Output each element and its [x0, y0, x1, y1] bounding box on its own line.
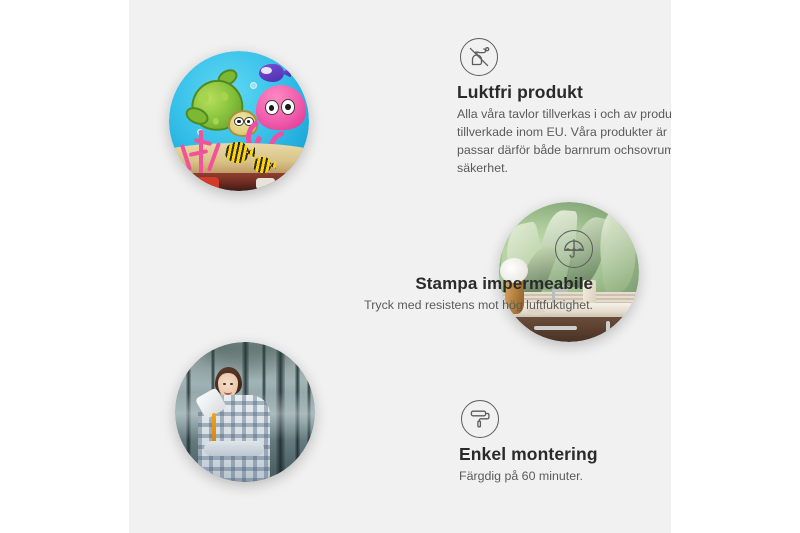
feature-body: Tryck med resistens mot hög luftfuktighe… — [291, 297, 593, 315]
paint-roller-icon — [461, 400, 499, 438]
no-fragrance-icon — [460, 38, 498, 76]
content-panel: Luktfri produkt Alla våra tavlor tillver… — [129, 0, 671, 533]
feature-body: Färgdig på 60 minuter. — [459, 468, 671, 486]
feature-block-odour-free: Luktfri produkt Alla våra tavlor tillver… — [457, 38, 671, 178]
feature-title: Stampa impermeabile — [291, 274, 593, 294]
feature-image-underwater — [169, 51, 309, 191]
umbrella-icon — [555, 230, 593, 268]
feature-body: Alla våra tavlor tillverkas i och av pro… — [457, 106, 671, 178]
feature-block-waterproof: Stampa impermeabile Tryck med resistens … — [291, 230, 593, 315]
feature-image-painter — [175, 342, 315, 482]
feature-block-easy-mounting: Enkel montering Färgdig på 60 minuter. — [459, 400, 671, 486]
feature-title: Enkel montering — [459, 444, 671, 465]
infographic-page: Luktfri produkt Alla våra tavlor tillver… — [0, 0, 800, 533]
feature-title: Luktfri produkt — [457, 82, 671, 103]
